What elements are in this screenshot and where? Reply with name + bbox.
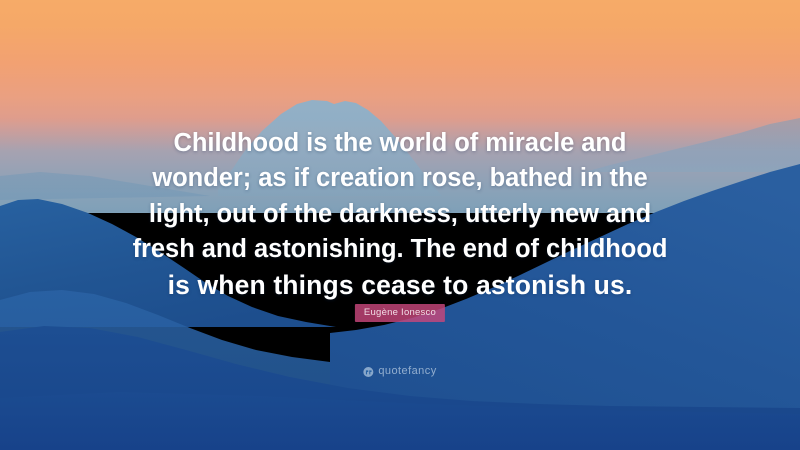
watermark-label: quotefancy: [378, 366, 436, 377]
quote-line-5: is when things cease to astonish us.: [0, 268, 800, 303]
quote-image: Childhood is the world of miracle and wo…: [0, 0, 800, 450]
quote-line-4: fresh and astonishing. The end of childh…: [0, 232, 800, 267]
watermark[interactable]: quotefancy: [363, 366, 436, 377]
quote-line-3: light, out of the darkness, utterly new …: [0, 197, 800, 232]
author-badge[interactable]: Eugène Ionesco: [355, 304, 445, 322]
quote-text: Childhood is the world of miracle and wo…: [0, 126, 800, 303]
quote-line-2: wonder; as if creation rose, bathed in t…: [0, 161, 800, 196]
quote-line-1: Childhood is the world of miracle and: [0, 126, 800, 161]
quote-mark-icon: [363, 367, 373, 377]
